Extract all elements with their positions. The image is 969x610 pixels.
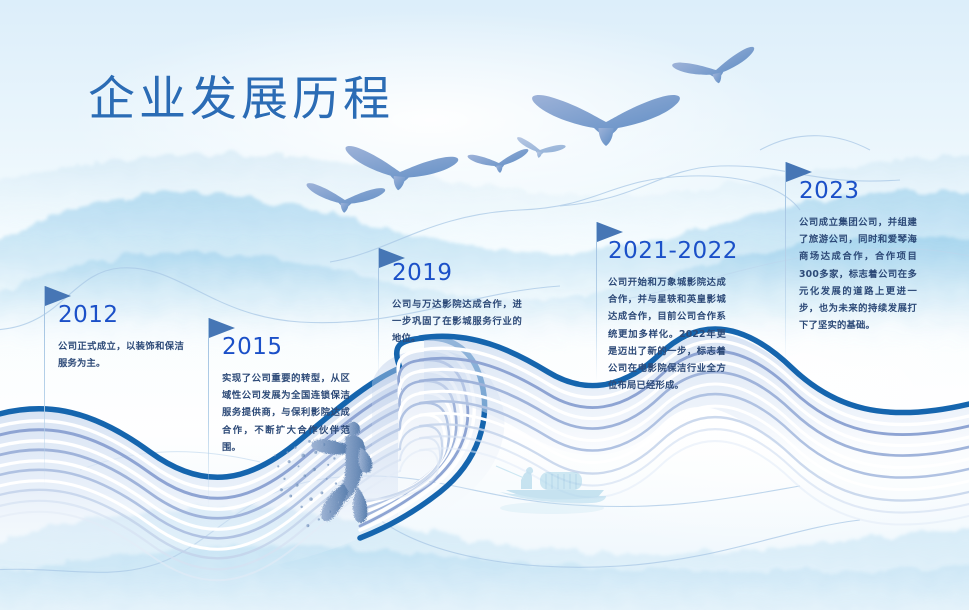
poster-canvas: 企业发展历程 2012 公司正式成立，以装饰和保洁服务为主。 2015 实现了公… (0, 0, 969, 610)
timeline-year-2021-2022: 2021-2022 (608, 238, 738, 264)
timeline-desc-2012: 公司正式成立，以装饰和保洁服务为主。 (58, 338, 184, 372)
page-title: 企业发展历程 (88, 60, 394, 129)
timeline-year-2015: 2015 (222, 334, 283, 360)
flag-pole-icon (208, 318, 209, 508)
timeline-year-2012: 2012 (58, 302, 119, 328)
flag-pole-icon (596, 222, 597, 382)
timeline-year-2023: 2023 (799, 178, 860, 204)
flag-pole-icon (785, 162, 786, 362)
timeline-desc-2015: 实现了公司重要的转型，从区域性公司发展为全国连锁保洁服务提供商，与保利影院达成合… (222, 370, 350, 456)
flag-pole-icon (44, 286, 45, 486)
timeline-desc-2023: 公司成立集团公司，并组建了旅游公司，同时和爱琴海商场达成合作，合作项目300多家… (799, 214, 917, 334)
timeline-desc-2019: 公司与万达影院达成合作，进一步巩固了在影城服务行业的地位。 (392, 296, 522, 348)
timeline-desc-2021-2022: 公司开始和万象城影院达成合作，并与星轶和英皇影城达成合作，目前公司合作系统更加多… (608, 274, 726, 394)
timeline-year-2019: 2019 (392, 260, 453, 286)
